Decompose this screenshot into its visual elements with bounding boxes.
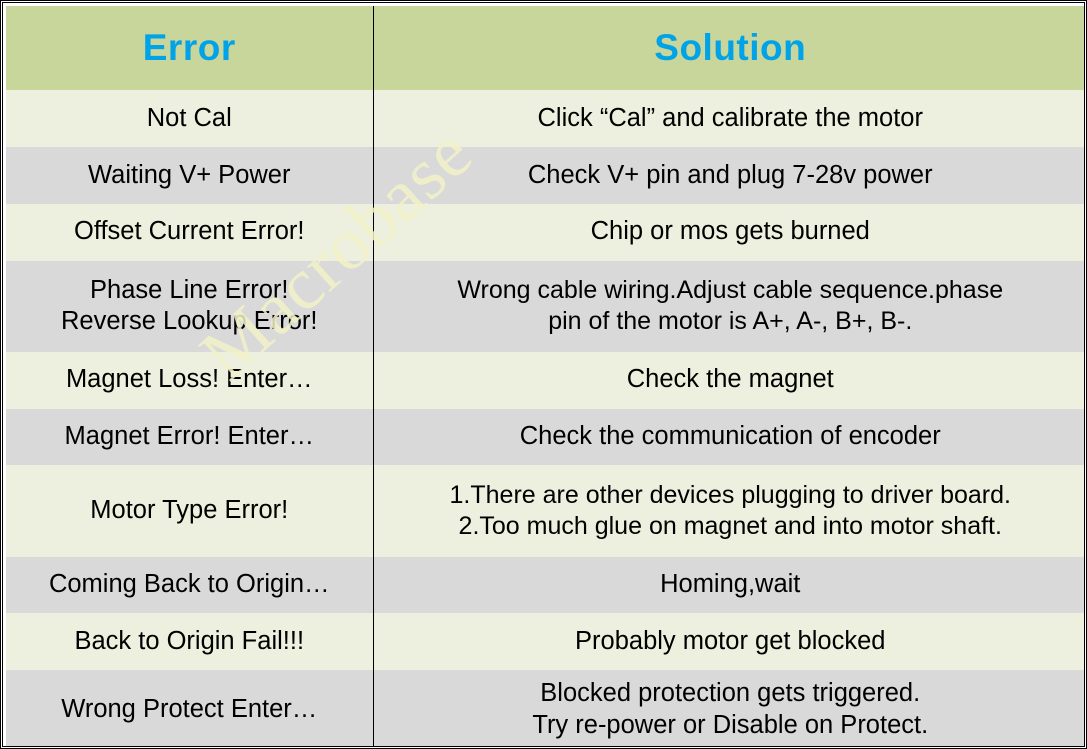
table-frame: Error Solution Not CalClick “Cal” and ca… [0, 0, 1087, 749]
error-cell: Motor Type Error! [6, 465, 373, 556]
table-body: Not CalClick “Cal” and calibrate the mot… [6, 90, 1087, 749]
column-header-solution: Solution [373, 6, 1087, 90]
table-header: Error Solution [6, 6, 1087, 90]
solution-cell: Homing,wait [373, 557, 1087, 614]
error-cell-line: Phase Line Error! [12, 275, 367, 307]
solution-cell-line: Check the magnet [380, 364, 1082, 396]
solution-cell-line: Click “Cal” and calibrate the motor [380, 103, 1082, 135]
solution-cell: Probably motor get blocked [373, 613, 1087, 670]
solution-cell-line: 2.Too much glue on magnet and into motor… [380, 511, 1082, 542]
solution-cell: Blocked protection gets triggered.Try re… [373, 670, 1087, 749]
table-row: Offset Current Error!Chip or mos gets bu… [6, 204, 1087, 261]
error-cell-line: Motor Type Error! [12, 495, 367, 527]
solution-cell-line: Homing,wait [380, 569, 1082, 601]
error-cell-line: Wrong Protect Enter… [12, 694, 367, 726]
solution-cell: Check V+ pin and plug 7-28v power [373, 147, 1087, 204]
error-cell-line: Offset Current Error! [12, 216, 367, 248]
table-row: Magnet Loss! Enter…Check the magnet [6, 352, 1087, 409]
solution-cell-line: pin of the motor is A+, A-, B+, B-. [380, 306, 1082, 337]
error-cell-line: Not Cal [12, 103, 367, 135]
solution-cell-line: 1.There are other devices plugging to dr… [380, 480, 1082, 511]
solution-cell: Check the communication of encoder [373, 409, 1087, 466]
error-cell: Wrong Protect Enter… [6, 670, 373, 749]
solution-cell: Wrong cable wiring.Adjust cable sequence… [373, 261, 1087, 352]
table-row: Not CalClick “Cal” and calibrate the mot… [6, 90, 1087, 147]
error-cell: Magnet Error! Enter… [6, 409, 373, 466]
solution-cell-line: Check V+ pin and plug 7-28v power [380, 160, 1082, 192]
solution-cell-line: Check the communication of encoder [380, 421, 1082, 453]
solution-cell-line: Try re-power or Disable on Protect. [380, 710, 1082, 742]
table-row: Motor Type Error!1.There are other devic… [6, 465, 1087, 556]
table-row: Wrong Protect Enter…Blocked protection g… [6, 670, 1087, 749]
error-cell: Back to Origin Fail!!! [6, 613, 373, 670]
table-row: Phase Line Error!Reverse Lookup Error!Wr… [6, 261, 1087, 352]
table-row: Waiting V+ PowerCheck V+ pin and plug 7-… [6, 147, 1087, 204]
solution-cell: Chip or mos gets burned [373, 204, 1087, 261]
solution-cell-line: Chip or mos gets burned [380, 216, 1082, 248]
error-cell: Phase Line Error!Reverse Lookup Error! [6, 261, 373, 352]
table-row: Back to Origin Fail!!!Probably motor get… [6, 613, 1087, 670]
error-cell-line: Magnet Error! Enter… [12, 421, 367, 453]
table-row: Coming Back to Origin…Homing,wait [6, 557, 1087, 614]
error-cell: Offset Current Error! [6, 204, 373, 261]
column-header-solution-label: Solution [654, 25, 806, 71]
error-cell-line: Coming Back to Origin… [12, 569, 367, 601]
header-row: Error Solution [6, 6, 1087, 90]
solution-cell-line: Wrong cable wiring.Adjust cable sequence… [380, 275, 1082, 306]
error-cell-line: Back to Origin Fail!!! [12, 626, 367, 658]
error-solution-table: Error Solution Not CalClick “Cal” and ca… [6, 6, 1087, 749]
error-cell-line: Reverse Lookup Error! [12, 306, 367, 338]
error-cell-line: Waiting V+ Power [12, 160, 367, 192]
solution-cell: 1.There are other devices plugging to dr… [373, 465, 1087, 556]
solution-cell-line: Blocked protection gets triggered. [380, 678, 1082, 710]
solution-cell-line: Probably motor get blocked [380, 626, 1082, 658]
solution-cell: Click “Cal” and calibrate the motor [373, 90, 1087, 147]
error-cell: Magnet Loss! Enter… [6, 352, 373, 409]
error-cell-line: Magnet Loss! Enter… [12, 364, 367, 396]
solution-cell: Check the magnet [373, 352, 1087, 409]
column-header-error: Error [6, 6, 373, 90]
error-cell: Coming Back to Origin… [6, 557, 373, 614]
error-cell: Waiting V+ Power [6, 147, 373, 204]
column-header-error-label: Error [143, 25, 236, 71]
error-cell: Not Cal [6, 90, 373, 147]
table-row: Magnet Error! Enter…Check the communicat… [6, 409, 1087, 466]
